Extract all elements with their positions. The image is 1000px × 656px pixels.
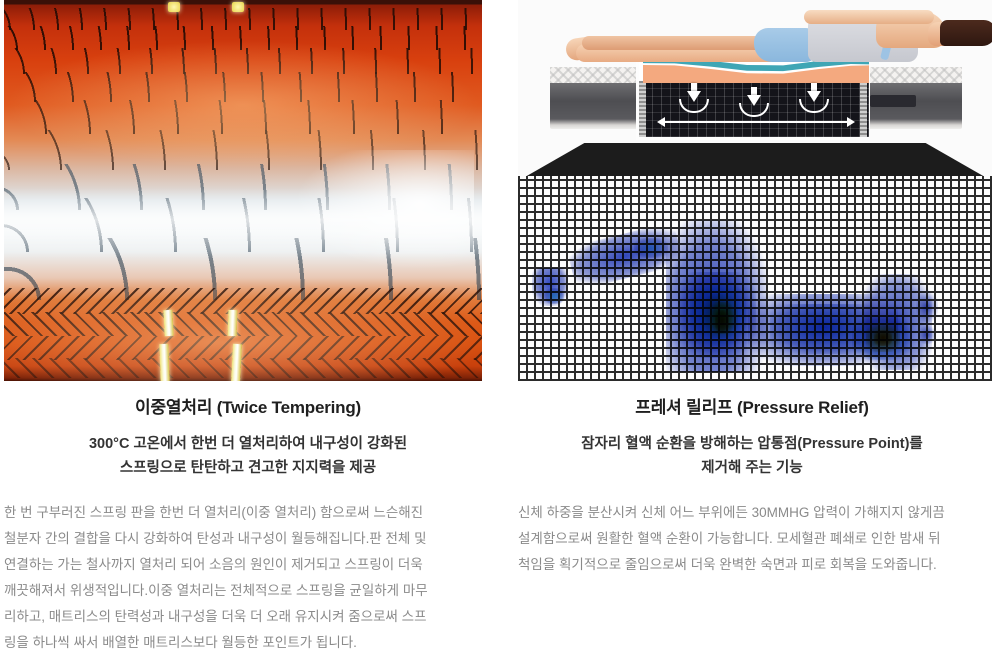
pressure-heatmap: [918, 326, 936, 344]
mattress-cutaway: [518, 0, 992, 150]
body-line: 깨끗해져서 위생적입니다.이중 열처리는 전체적으로 스프링을 균일하게 마무: [4, 578, 480, 604]
coil-spring-rows: [4, 336, 482, 360]
body-line: 신체 하중을 분산시켜 신체 어느 부위에든 30MMHG 압력이 가해지지 않…: [518, 500, 992, 526]
subtitle-line: 스프링으로 탄탄하고 견고한 지지력을 제공: [0, 456, 496, 480]
coil-spring-rows: [4, 100, 482, 134]
feature-body-text: 한 번 구부러진 스프링 판을 한번 더 열처리(이중 열처리) 함으로써 느슨…: [4, 500, 480, 656]
subtitle-line: 잠자리 혈액 순환을 방해하는 압통점(Pressure Point)를: [504, 432, 1000, 456]
pressure-down-arrows: [751, 87, 757, 95]
feature-subtitle: 잠자리 혈액 순환을 방해하는 압통점(Pressure Point)를 제거해…: [504, 432, 1000, 480]
figure-hair: [940, 20, 992, 46]
spring-core-edge: [860, 81, 867, 137]
twice-tempering-spring-photo: [4, 0, 482, 381]
yellow-glow-bar-right: [232, 2, 244, 12]
coil-spring-rows: [4, 48, 482, 74]
yellow-glow-bar-left: [163, 310, 173, 336]
pressure-spread-arrow: [665, 121, 847, 123]
page-title: 이중열처리 (Twice Tempering): [0, 393, 496, 418]
body-line: 리하고, 매트리스의 탄력성과 내구성을 더욱 더 오래 유지시켜 줌으로써 스…: [4, 604, 480, 630]
page-title: 프레셔 릴리프 (Pressure Relief): [504, 393, 1000, 418]
coil-spring-rows: [4, 358, 482, 378]
spring-core-edge: [639, 81, 646, 137]
coil-spring-rows: [4, 72, 482, 102]
coil-spring-rows: [4, 26, 482, 50]
body-line: 링을 하나씩 싸서 배열한 매트리스보다 월등한 포인트가 됩니다.: [4, 630, 480, 656]
subtitle-line: 300°C 고온에서 한번 더 열처리하여 내구성이 강화된: [0, 432, 496, 456]
feature-body-text: 신체 하중을 분산시켜 신체 어느 부위에든 30MMHG 압력이 가해지지 않…: [518, 500, 992, 578]
pressure-map-grid: [518, 176, 992, 381]
pressure-down-arrows: [811, 83, 817, 91]
sleeping-woman: [576, 8, 956, 72]
coil-spring-rows: [4, 288, 482, 314]
pressure-relief-scene: [518, 0, 992, 381]
body-line: 철분자 간의 결합을 다시 강화하여 탄성과 내구성이 월등해집니다.판 전체 …: [4, 526, 480, 552]
product-feature-page: 이중열처리 (Twice Tempering) 300°C 고온에서 한번 더 …: [0, 0, 1000, 656]
pressure-heatmap: [916, 292, 938, 322]
figure-leg: [582, 36, 760, 50]
feature-panel-pressure-relief: 프레셔 릴리프 (Pressure Relief) 잠자리 혈액 순환을 방해하…: [504, 0, 1000, 656]
pressure-relief-diagram: [518, 0, 992, 381]
figure-shorts: [754, 28, 816, 62]
pressure-heatmap: [544, 288, 564, 304]
yellow-glow-bar-left: [168, 2, 180, 12]
yellow-glow-bar-left: [159, 344, 169, 381]
body-line: 한 번 구부러진 스프링 판을 한번 더 열처리(이중 열처리) 함으로써 느슨…: [4, 500, 480, 526]
pressure-heatmap: [874, 330, 892, 346]
body-line: 척임을 획기적으로 줄임으로써 더욱 완벽한 숙면과 피로 회복을 도와줍니다.: [518, 552, 992, 578]
pressure-down-arrows: [691, 83, 697, 91]
mattress-brand-label: [870, 95, 916, 107]
body-line: 설계함으로써 원활한 혈액 순환이 가능합니다. 모세혈관 폐쇄로 인한 밤새 …: [518, 526, 992, 552]
body-line: 연결하는 가는 철사까지 열처리 되어 소음의 원인이 제거되고 스프링이 더욱: [4, 552, 480, 578]
feature-subtitle: 300°C 고온에서 한번 더 열처리하여 내구성이 강화된 스프링으로 탄탄하…: [0, 432, 496, 480]
pressure-heatmap: [715, 310, 729, 332]
figure-arm: [804, 10, 934, 24]
pressure-heatmap: [634, 238, 668, 258]
feature-panel-twice-tempering: 이중열처리 (Twice Tempering) 300°C 고온에서 한번 더 …: [0, 0, 496, 656]
yellow-glow-bar-right: [231, 344, 242, 381]
yellow-glow-bar-right: [228, 310, 238, 336]
subtitle-line: 제거해 주는 기능: [504, 456, 1000, 480]
coil-spring-rows: [4, 312, 482, 336]
